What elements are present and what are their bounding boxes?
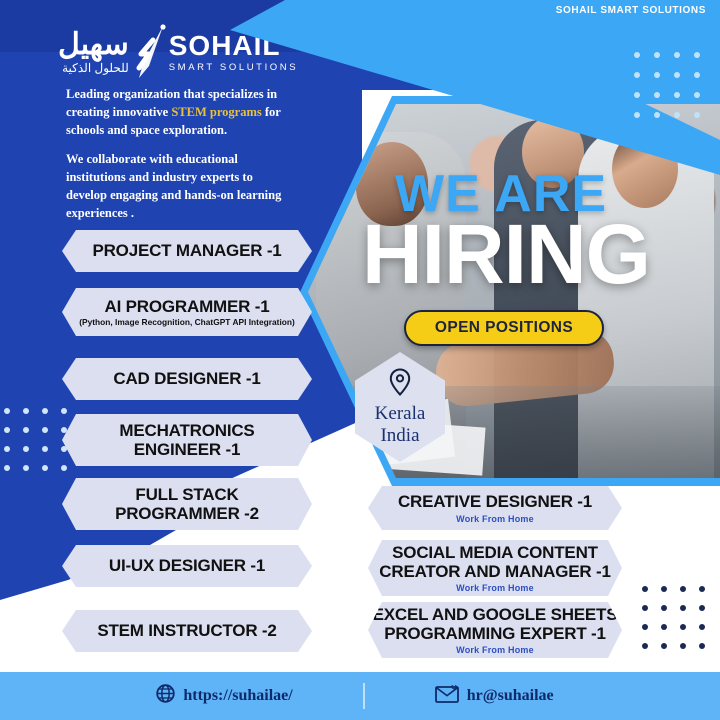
decorative-dot bbox=[4, 446, 10, 452]
job-pill-full-stack-programmer[interactable]: FULL STACKPROGRAMMER -2 bbox=[62, 478, 312, 530]
location-city: Kerala bbox=[375, 403, 426, 424]
decorative-dot bbox=[61, 408, 67, 414]
globe-icon bbox=[156, 684, 175, 708]
decorative-dot bbox=[661, 605, 667, 611]
job-pill-stem-instructor[interactable]: STEM INSTRUCTOR -2 bbox=[62, 610, 312, 652]
footer-bar: https://suhailae/ hr@suhailae bbox=[0, 672, 720, 720]
decorative-dot bbox=[634, 72, 640, 78]
decorative-dot bbox=[42, 408, 48, 414]
decorative-dot bbox=[642, 605, 648, 611]
logo-arabic: سهيل للحلول الذكية bbox=[58, 30, 129, 74]
decorative-dot bbox=[23, 446, 29, 452]
decorative-dot bbox=[680, 605, 686, 611]
decorative-dot bbox=[674, 112, 680, 118]
decorative-dot bbox=[634, 92, 640, 98]
open-positions-button[interactable]: OPEN POSITIONS bbox=[404, 310, 604, 346]
job-title: CREATIVE DESIGNER -1 bbox=[398, 492, 592, 511]
dot-grid-top-right bbox=[634, 52, 714, 132]
job-pill-excel-google-sheets-expert[interactable]: EXCEL AND GOOGLE SHEETSPROGRAMMING EXPER… bbox=[368, 602, 622, 658]
decorative-dot bbox=[680, 586, 686, 592]
footer-email-link[interactable]: hr@suhailae bbox=[435, 685, 554, 708]
dot-grid-bottom-right bbox=[642, 586, 718, 662]
job-pill-ai-programmer[interactable]: AI PROGRAMMER -1 (Python, Image Recognit… bbox=[62, 288, 312, 336]
job-subtitle: Work From Home bbox=[456, 583, 534, 593]
job-subtitle: Work From Home bbox=[456, 514, 534, 524]
company-description: Leading organization that specializes in… bbox=[66, 86, 291, 222]
location-country: India bbox=[380, 425, 419, 446]
decorative-dot bbox=[42, 465, 48, 471]
job-pill-social-media-content-creator[interactable]: SOCIAL MEDIA CONTENTCREATOR AND MANAGER … bbox=[368, 540, 622, 596]
description-highlight: STEM programs bbox=[171, 105, 261, 119]
decorative-dot bbox=[42, 446, 48, 452]
footer-email-text: hr@suhailae bbox=[467, 687, 554, 705]
logo-english-sub: SMART SOLUTIONS bbox=[169, 63, 298, 73]
job-pill-cad-designer[interactable]: CAD DESIGNER -1 bbox=[62, 358, 312, 400]
decorative-dot bbox=[654, 72, 660, 78]
decorative-dot bbox=[654, 52, 660, 58]
job-title: STEM INSTRUCTOR -2 bbox=[97, 621, 276, 640]
job-title: MECHATRONICSENGINEER -1 bbox=[119, 421, 254, 459]
decorative-dot bbox=[661, 624, 667, 630]
decorative-dot bbox=[694, 72, 700, 78]
decorative-dot bbox=[694, 112, 700, 118]
decorative-dot bbox=[23, 465, 29, 471]
hiring-poster: SOHAIL SMART SOLUTIONS سهيل للحلول الذكي… bbox=[0, 0, 720, 720]
decorative-dot bbox=[61, 465, 67, 471]
job-title: AI PROGRAMMER -1 bbox=[105, 297, 270, 316]
decorative-dot bbox=[699, 624, 705, 630]
description-paragraph-2: We collaborate with educational institut… bbox=[66, 151, 291, 222]
job-title: EXCEL AND GOOGLE SHEETSPROGRAMMING EXPER… bbox=[373, 605, 618, 643]
decorative-dot bbox=[699, 605, 705, 611]
decorative-dot bbox=[42, 427, 48, 433]
decorative-dot bbox=[694, 92, 700, 98]
hero-line-hiring: HIRING bbox=[362, 212, 650, 296]
job-pill-mechatronics-engineer[interactable]: MECHATRONICSENGINEER -1 bbox=[62, 414, 312, 466]
decorative-dot bbox=[661, 586, 667, 592]
job-pill-ui-ux-designer[interactable]: UI-UX DESIGNER -1 bbox=[62, 545, 312, 587]
job-title: SOCIAL MEDIA CONTENTCREATOR AND MANAGER … bbox=[379, 543, 610, 581]
decorative-dot bbox=[674, 52, 680, 58]
job-title: PROJECT MANAGER -1 bbox=[92, 241, 281, 260]
footer-website-link[interactable]: https://suhailae/ bbox=[156, 684, 292, 708]
decorative-dot bbox=[694, 52, 700, 58]
map-pin-icon bbox=[389, 368, 411, 401]
decorative-dot bbox=[680, 624, 686, 630]
decorative-dot bbox=[674, 72, 680, 78]
decorative-dot bbox=[4, 465, 10, 471]
decorative-dot bbox=[642, 643, 648, 649]
decorative-dot bbox=[23, 408, 29, 414]
decorative-dot bbox=[642, 586, 648, 592]
job-subtitle: (Python, Image Recognition, ChatGPT API … bbox=[79, 318, 295, 327]
decorative-dot bbox=[654, 92, 660, 98]
job-pill-project-manager[interactable]: PROJECT MANAGER -1 bbox=[62, 230, 312, 272]
footer-divider bbox=[363, 683, 365, 709]
decorative-dot bbox=[642, 624, 648, 630]
job-pill-creative-designer[interactable]: CREATIVE DESIGNER -1 Work From Home bbox=[368, 486, 622, 530]
decorative-dot bbox=[661, 643, 667, 649]
footer-website-text: https://suhailae/ bbox=[183, 687, 292, 705]
logo-arabic-sub: للحلول الذكية bbox=[62, 62, 129, 74]
decorative-dot bbox=[680, 643, 686, 649]
decorative-dot bbox=[4, 427, 10, 433]
decorative-dot bbox=[674, 92, 680, 98]
decorative-dot bbox=[634, 52, 640, 58]
job-title: FULL STACKPROGRAMMER -2 bbox=[115, 485, 259, 523]
decorative-dot bbox=[654, 112, 660, 118]
logo-arabic-main: سهيل bbox=[58, 30, 129, 60]
decorative-dot bbox=[61, 427, 67, 433]
job-title: UI-UX DESIGNER -1 bbox=[109, 556, 265, 575]
job-subtitle: Work From Home bbox=[456, 645, 534, 655]
decorative-dot bbox=[699, 643, 705, 649]
description-paragraph-1: Leading organization that specializes in… bbox=[66, 86, 291, 139]
header-brand-label: SOHAIL SMART SOLUTIONS bbox=[556, 5, 706, 16]
decorative-dot bbox=[23, 427, 29, 433]
decorative-dot bbox=[634, 112, 640, 118]
envelope-icon bbox=[435, 685, 459, 708]
decorative-dot bbox=[4, 408, 10, 414]
decorative-dot bbox=[699, 586, 705, 592]
comet-swoosh-icon bbox=[133, 24, 167, 80]
job-title: CAD DESIGNER -1 bbox=[113, 369, 260, 388]
